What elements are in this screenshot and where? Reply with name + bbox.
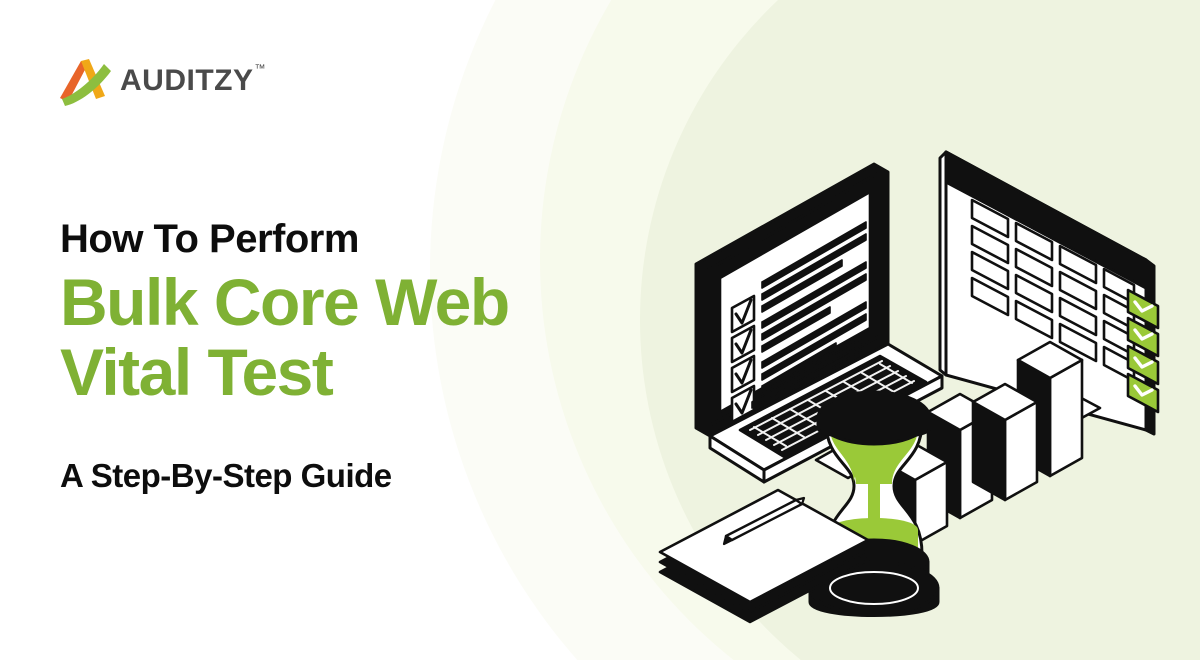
hero-illustration [630, 130, 1190, 640]
hero-subhead: A Step-By-Step Guide [60, 458, 700, 494]
logo-text: AUDITZY [120, 66, 254, 96]
headline-line-1: Bulk Core Web [60, 265, 509, 339]
hero-headline: Bulk Core Web Vital Test [60, 268, 700, 408]
auditzy-a-mark-icon [58, 55, 114, 107]
trademark-symbol: ™ [255, 64, 266, 75]
brand-logo[interactable]: AUDITZY ™ [58, 55, 266, 107]
headline-line-2: Vital Test [60, 338, 700, 408]
hero-eyebrow: How To Perform [60, 218, 700, 260]
hero-copy: How To Perform Bulk Core Web Vital Test … [60, 218, 700, 494]
logo-wordmark: AUDITZY ™ [120, 66, 266, 96]
blog-banner: AUDITZY ™ How To Perform Bulk Core Web V… [0, 0, 1200, 660]
